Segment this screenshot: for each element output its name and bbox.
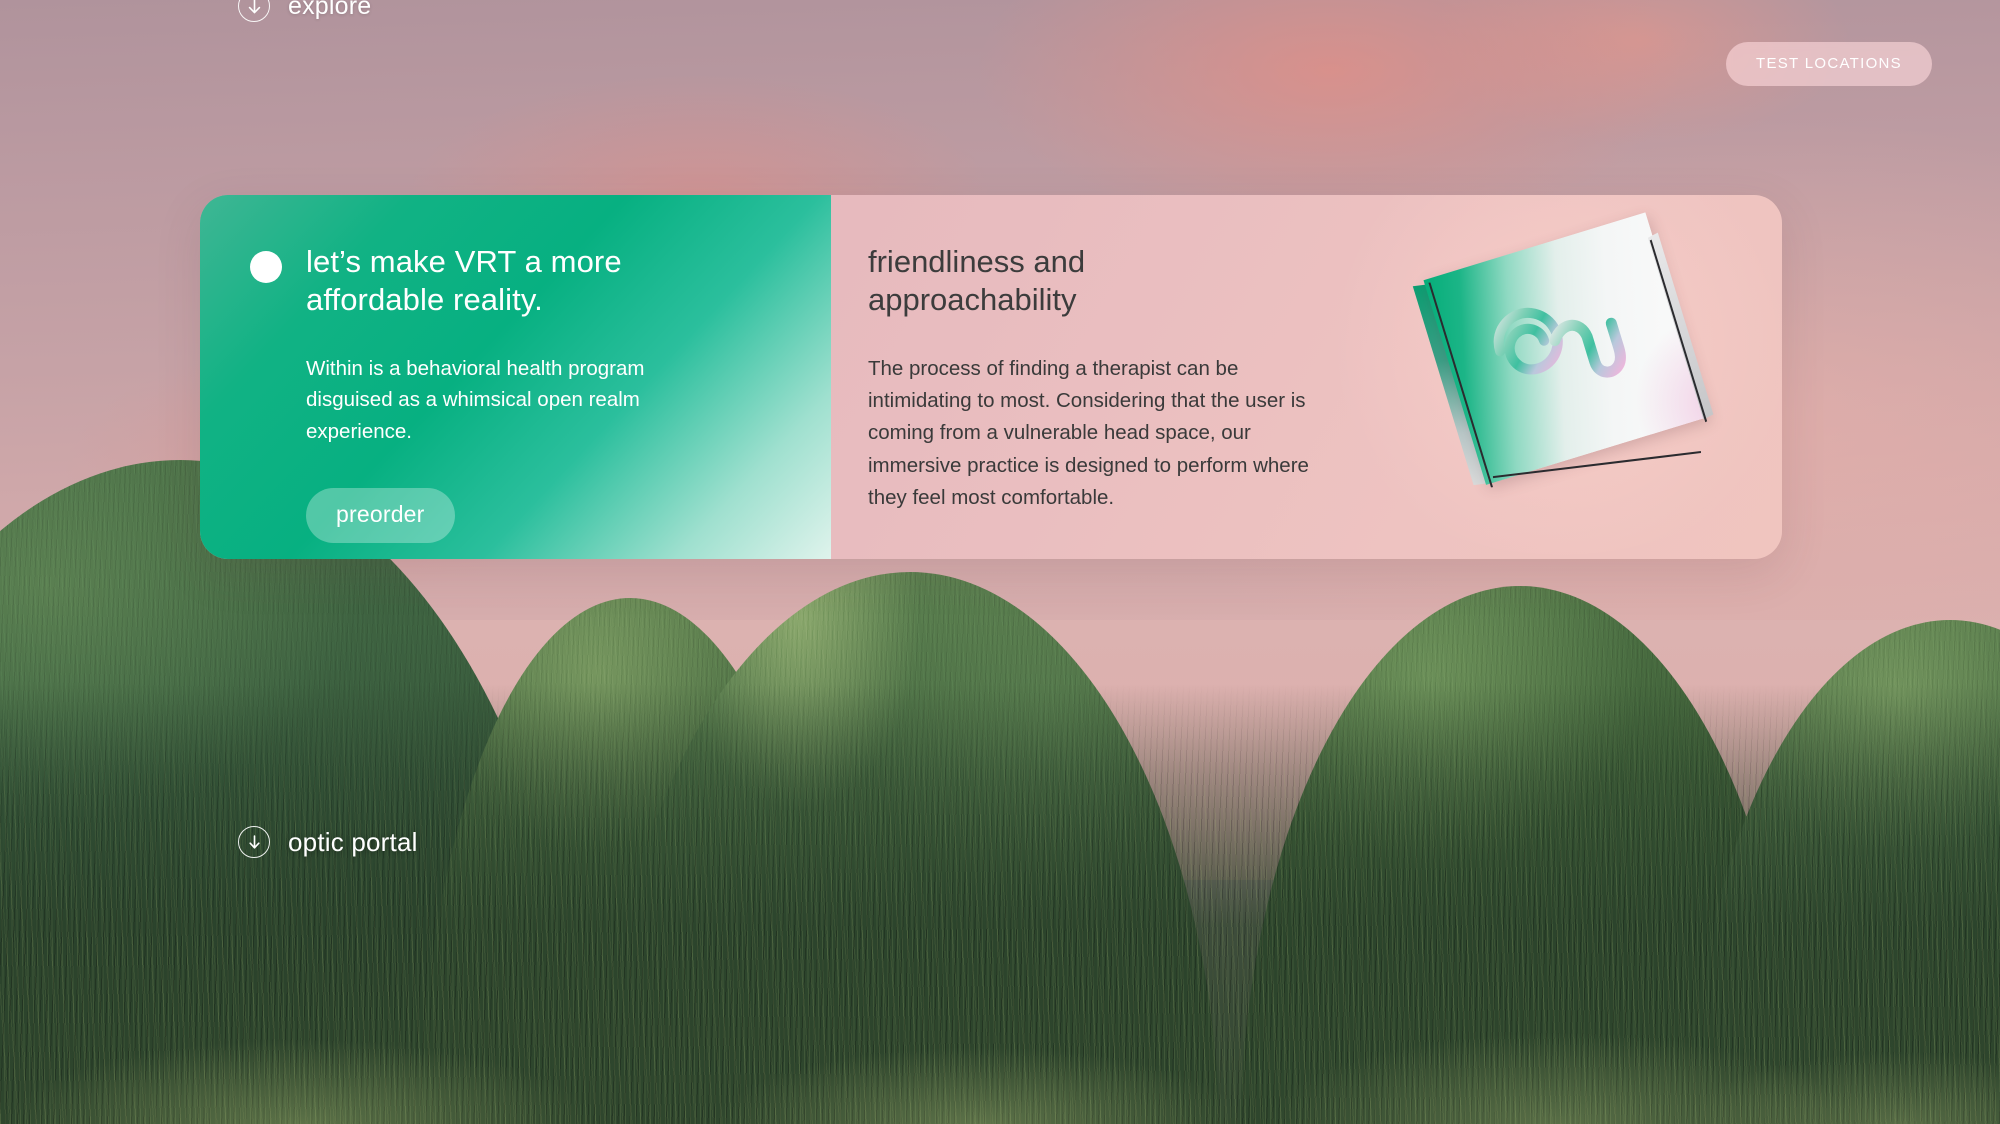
info-panel: let’s make VRT a more affordable reality… (200, 195, 1782, 559)
pink-section-heading: friendliness and approachability (868, 243, 1168, 319)
green-card-body: Within is a behavioral health program di… (306, 353, 736, 448)
arrow-down-circle-icon (238, 0, 270, 22)
preorder-button[interactable]: preorder (306, 488, 455, 543)
nav-optic-portal[interactable]: optic portal (238, 826, 418, 858)
arrow-down-circle-icon (238, 826, 270, 858)
pink-section: friendliness and approachability The pro… (831, 195, 1782, 559)
pink-section-body: The process of finding a therapist can b… (868, 353, 1338, 515)
test-locations-button[interactable]: TEST LOCATIONS (1726, 42, 1932, 86)
nav-optic-portal-label: optic portal (288, 827, 418, 858)
green-card-heading: let’s make VRT a more affordable reality… (306, 243, 651, 319)
nav-explore[interactable]: explore (238, 0, 371, 22)
dot-icon (250, 251, 282, 283)
within-product-box-icon (1400, 195, 1737, 525)
test-locations-label: TEST LOCATIONS (1756, 55, 1902, 72)
foreground-grass (0, 684, 2000, 1124)
hero-scene: explore TEST LOCATIONS let’s make VRT a … (0, 0, 2000, 1124)
nav-explore-label: explore (288, 0, 371, 21)
green-card: let’s make VRT a more affordable reality… (200, 195, 831, 559)
green-card-heading-row: let’s make VRT a more affordable reality… (250, 243, 781, 319)
